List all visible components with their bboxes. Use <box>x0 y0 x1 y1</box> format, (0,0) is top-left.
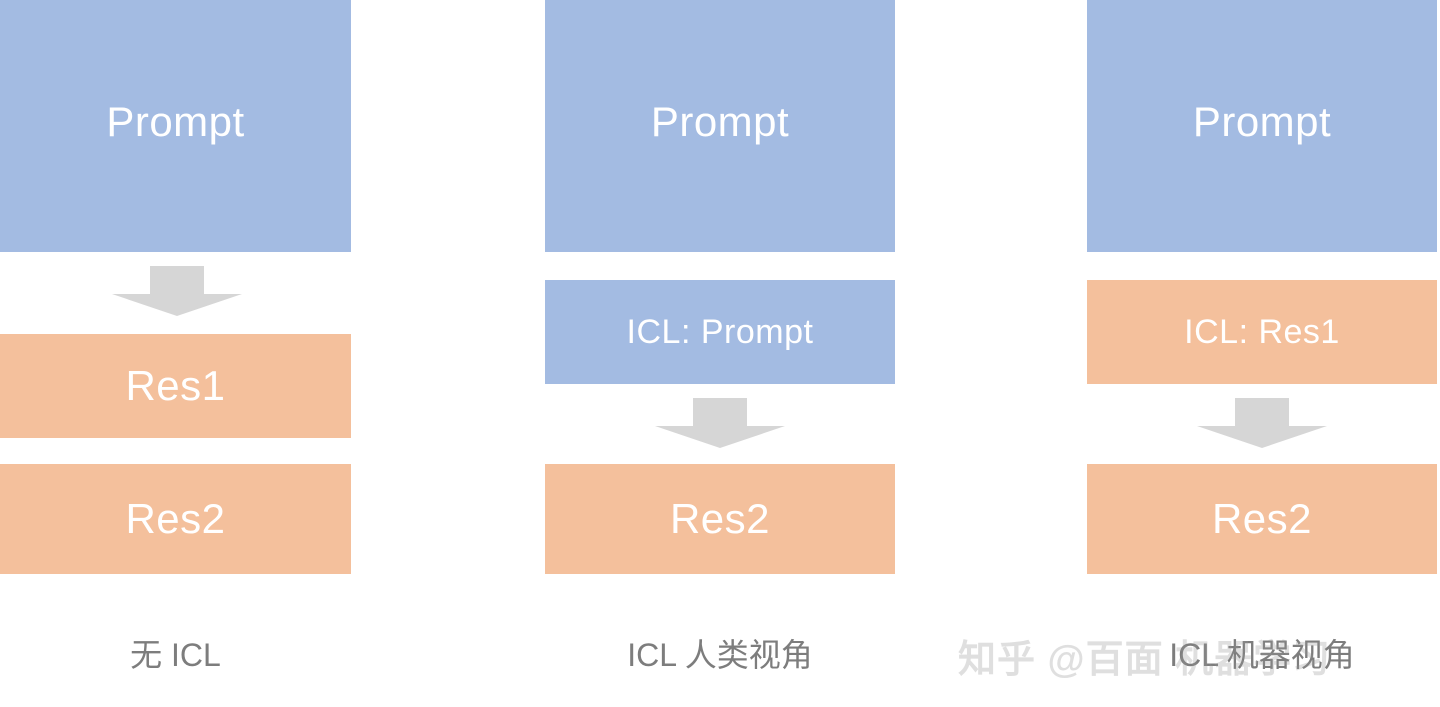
block-label: ICL: Res1 <box>1184 313 1340 352</box>
block-res2: Res2 <box>545 464 895 574</box>
block-label: Prompt <box>651 98 789 146</box>
block-label: Prompt <box>1193 98 1331 146</box>
block-label: Res1 <box>125 362 225 410</box>
block-label: Res2 <box>1212 495 1312 543</box>
arrow-down-icon <box>112 266 242 316</box>
diagram-canvas: Prompt Res1 Res2 无 ICL Prompt ICL: Promp… <box>0 0 1440 707</box>
column-icl-machine-view: Prompt ICL: Res1 Res2 ICL 机器视角 <box>1087 0 1437 707</box>
block-icl-prompt: ICL: Prompt <box>545 280 895 384</box>
arrow-down-icon <box>1197 398 1327 448</box>
block-prompt: Prompt <box>545 0 895 252</box>
block-label: Res2 <box>670 495 770 543</box>
caption-icl-machine-view: ICL 机器视角 <box>1087 630 1437 676</box>
block-label: Prompt <box>106 98 244 146</box>
arrow-down-icon <box>655 398 785 448</box>
block-res2: Res2 <box>1087 464 1437 574</box>
block-res1: Res1 <box>0 334 351 438</box>
caption-icl-human-view: ICL 人类视角 <box>545 630 895 676</box>
block-label: ICL: Prompt <box>627 313 814 352</box>
block-res2: Res2 <box>0 464 351 574</box>
column-no-icl: Prompt Res1 Res2 无 ICL <box>0 0 351 707</box>
block-prompt: Prompt <box>0 0 351 252</box>
block-label: Res2 <box>125 495 225 543</box>
block-prompt: Prompt <box>1087 0 1437 252</box>
caption-no-icl: 无 ICL <box>0 630 351 676</box>
column-icl-human-view: Prompt ICL: Prompt Res2 ICL 人类视角 <box>545 0 895 707</box>
block-icl-res1: ICL: Res1 <box>1087 280 1437 384</box>
